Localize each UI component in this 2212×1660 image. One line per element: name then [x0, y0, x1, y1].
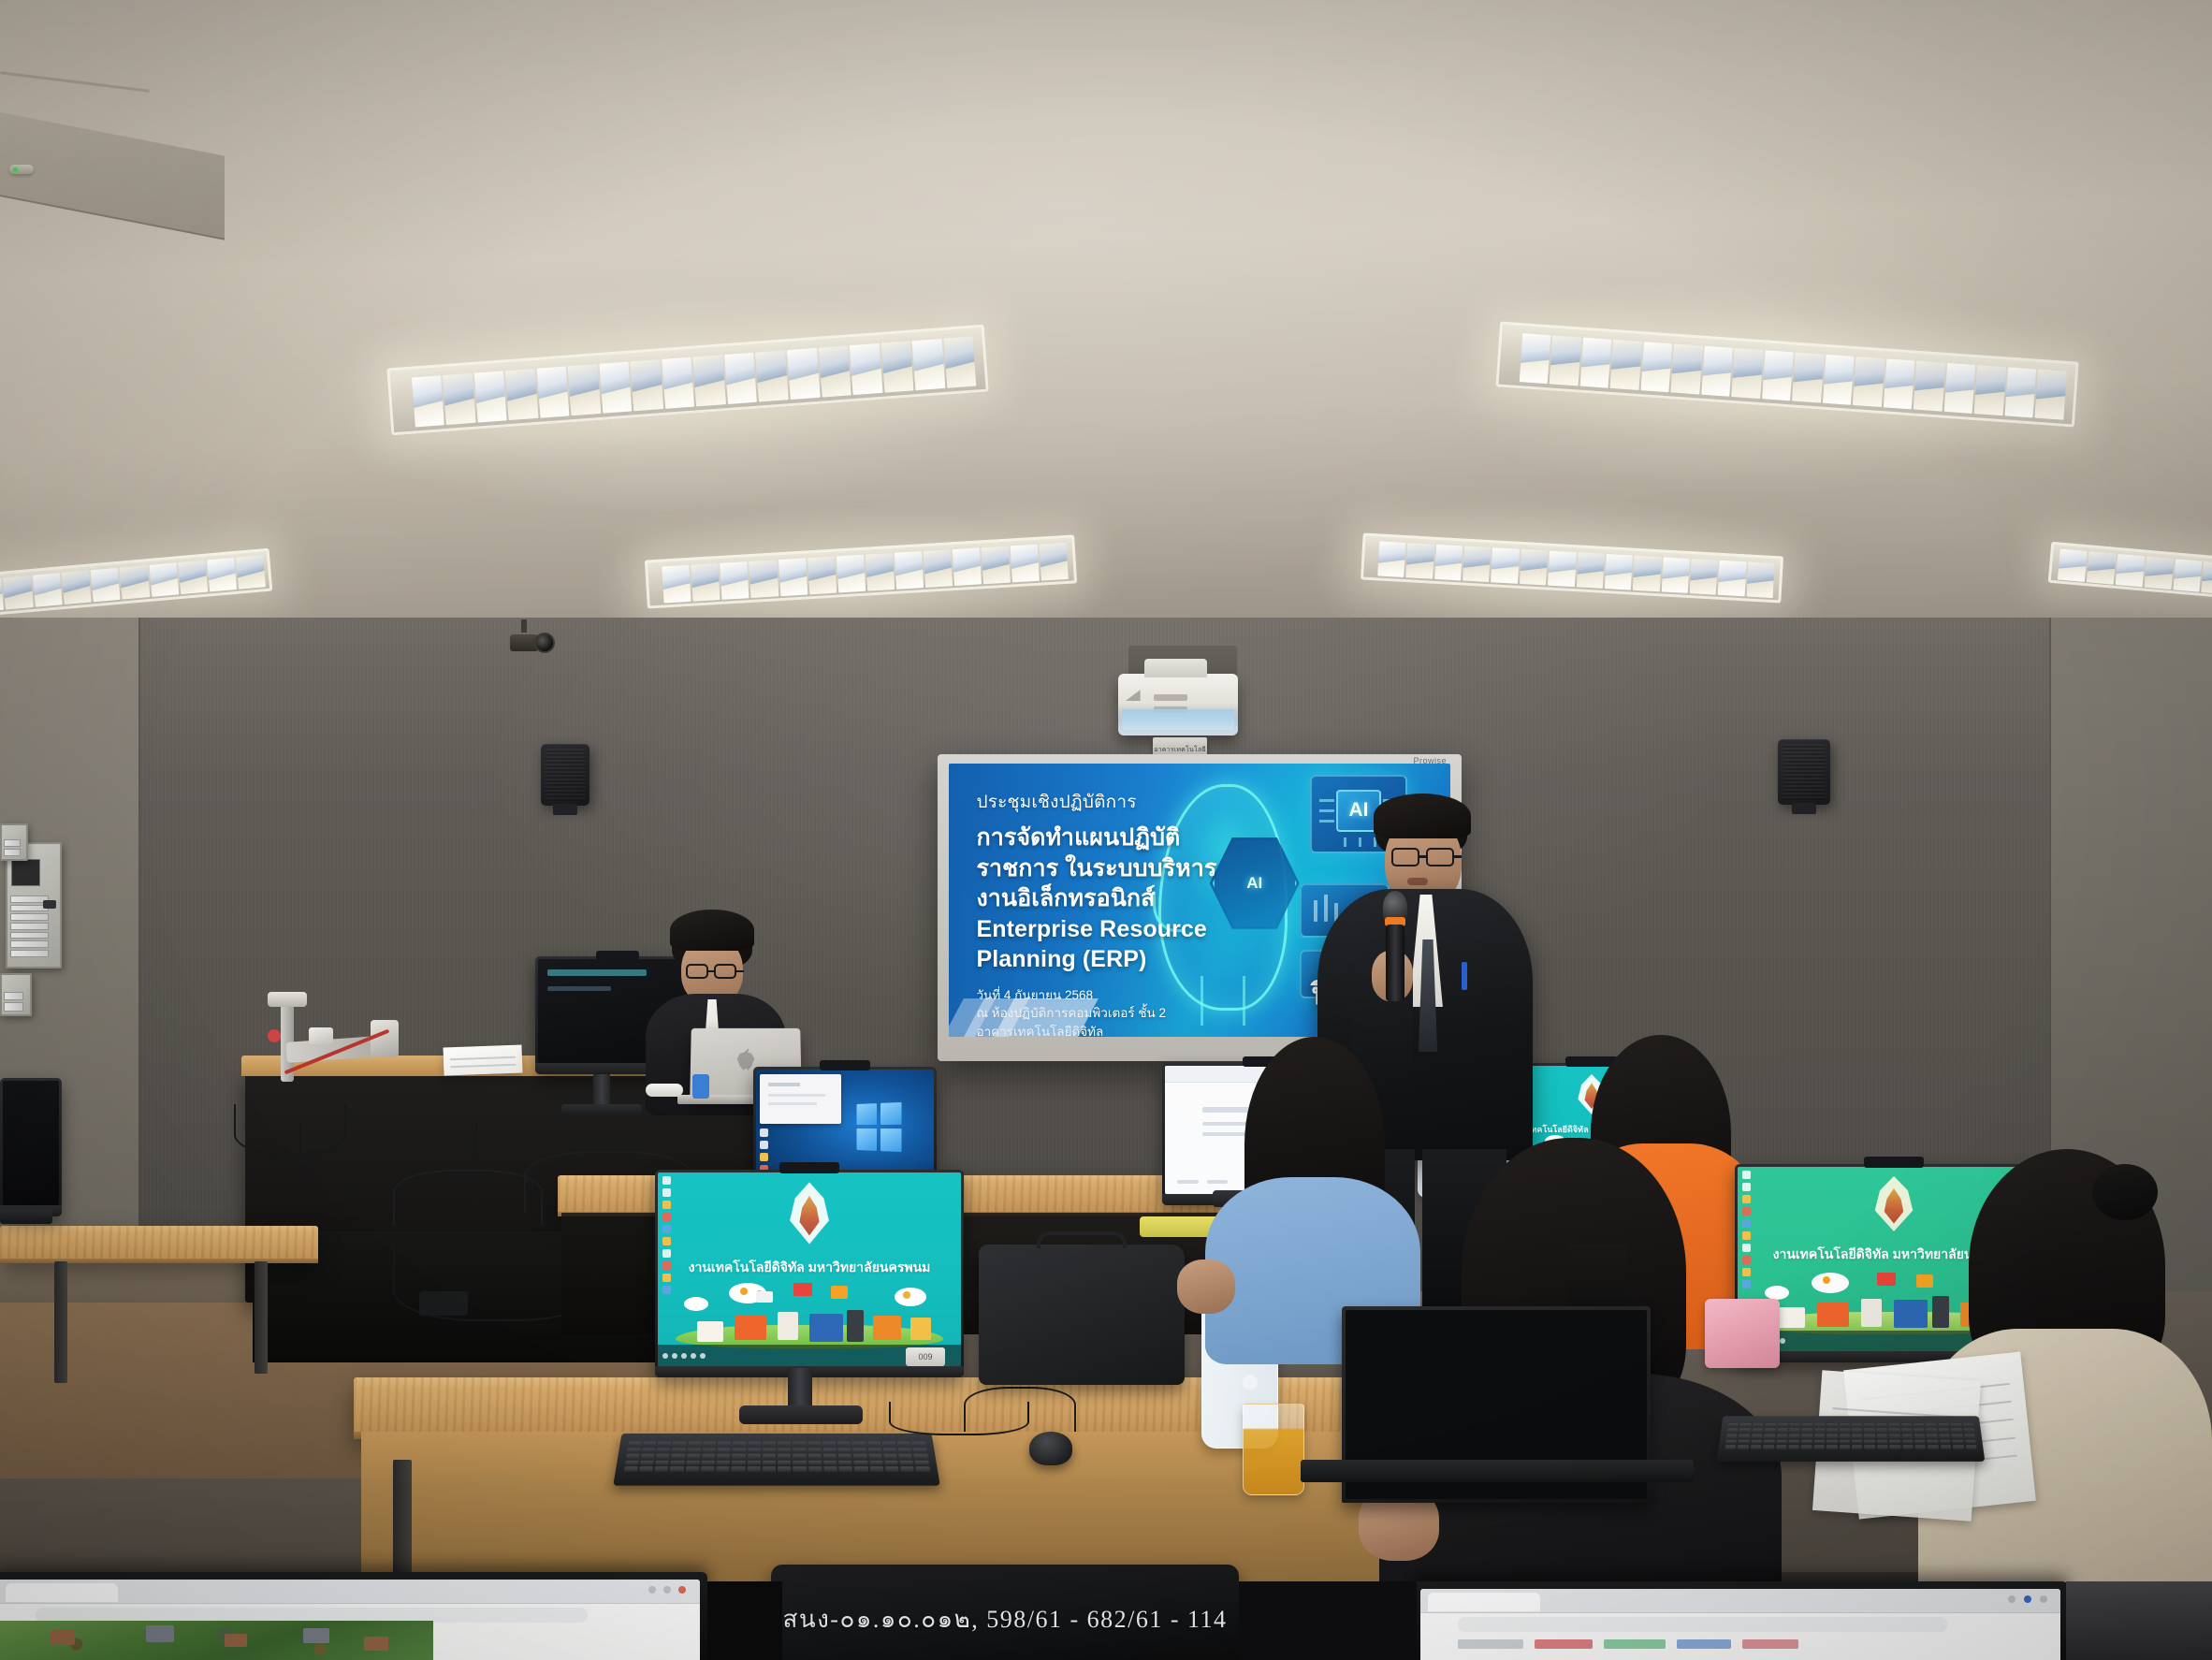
paper-stack-lectern — [444, 1045, 523, 1076]
slide-kicker: ประชุมเชิงปฏิบัติการ — [976, 788, 1216, 816]
monitor-npu-front-screen: งานเทคโนโลยีดิจิทัล มหาวิทยาลัยนครพนม — [658, 1172, 961, 1366]
pen-icon — [1462, 962, 1467, 990]
microphone-body — [1386, 925, 1404, 1001]
projector-asset-plate-text: อาคารเทคโนโลยี — [1154, 745, 1206, 755]
electrical-breaker-panel — [6, 842, 62, 968]
ai-chip-label: AI — [1348, 799, 1368, 822]
slide-title-line-5: Planning (ERP) — [976, 944, 1216, 975]
webcam-icon — [779, 1162, 839, 1173]
chair-asset-tag: สนง-๐๑.๑๐.๐๑๒, 598/61 - 682/61 - 114 — [782, 1600, 1227, 1638]
monitor-lectern-base — [561, 1104, 642, 1115]
glasses-icon — [1426, 848, 1454, 866]
backpack-on-desk — [979, 1245, 1185, 1385]
webcam-icon — [820, 1060, 870, 1070]
foreground-laptop-left[interactable] — [0, 1572, 707, 1660]
chair-back: สนง-๐๑.๑๐.๐๑๒, 598/61 - 682/61 - 114 — [771, 1565, 1239, 1660]
glasses-icon — [1391, 848, 1419, 866]
cable — [234, 1104, 346, 1155]
keyboard-right[interactable] — [1717, 1416, 1986, 1462]
document-camera-light — [309, 1027, 333, 1044]
monitor-side-left-base — [0, 1209, 52, 1224]
monitor-npu-front-base — [739, 1405, 863, 1424]
lectern-blue-object — [692, 1074, 709, 1099]
slide-title: การจัดทำแผนปฏิบัติ ราชการ ในระบบบริหาร ง… — [976, 823, 1216, 975]
ai-hex-badge-label: AI — [1246, 874, 1262, 893]
mouse-front[interactable] — [1029, 1432, 1072, 1465]
slide-title-line-2: ราชการ ในระบบบริหาร — [976, 853, 1216, 884]
slide-title-line-1: การจัดทำแผนปฏิบัติ — [976, 823, 1216, 853]
hair-bun — [2092, 1164, 2158, 1220]
foreground-laptop-right-screen — [1420, 1589, 2060, 1660]
lectern-mouse[interactable] — [646, 1084, 683, 1097]
keyboard-front[interactable] — [613, 1434, 939, 1486]
slide-title-line-4: Enterprise Resource — [976, 914, 1216, 945]
attendee-blue-hand — [1177, 1260, 1235, 1314]
microphone-head — [268, 1029, 281, 1042]
foreground-gap-left — [707, 1581, 782, 1660]
monitor-side-left[interactable] — [0, 1078, 62, 1216]
attendee-laptop-base — [1301, 1460, 1694, 1482]
keyboard-cable — [889, 1402, 1029, 1435]
monitor-npu-front[interactable]: งานเทคโนโลยีดิจิทัล มหาวิทยาลัยนครพนม — [655, 1170, 964, 1377]
electrical-sub-panel — [0, 823, 28, 861]
npu-wallpaper-text: งานเทคโนโลยีดิจิทัล มหาวิทยาลัยนครพนม — [676, 1258, 942, 1278]
electrical-sub-panel-2 — [0, 973, 32, 1016]
desk-leg — [54, 1261, 67, 1383]
slide-chevron-decor — [949, 998, 1159, 1037]
glasses-icon — [686, 964, 708, 979]
cable — [393, 1170, 543, 1226]
webcam-icon — [1864, 1157, 1924, 1168]
monitor-lectern-stand — [593, 1074, 610, 1106]
ceiling-shading — [0, 0, 2212, 655]
wall-speaker-left — [541, 744, 589, 806]
wall-speaker-right — [1778, 739, 1830, 805]
foreground-laptop-right[interactable] — [1413, 1581, 2068, 1660]
foreground-edge-right — [2066, 1581, 2212, 1660]
document-camera-lens-housing — [371, 1020, 399, 1057]
foreground-laptop-left-screen — [0, 1580, 700, 1660]
lecture-room-photo: อาคารเทคโนโลยี Prowise AI AI — [0, 0, 2212, 1660]
glasses-icon — [714, 964, 736, 979]
projector — [1118, 674, 1238, 735]
security-camera-icon — [510, 629, 560, 657]
foreground-gap-right — [1239, 1581, 1417, 1660]
iced-drink-glass — [1243, 1404, 1304, 1495]
smoke-detector-icon — [9, 165, 34, 174]
desk-leg — [255, 1261, 268, 1374]
side-desk-left — [0, 1226, 318, 1263]
monitor-asset-sticker: 009 — [906, 1347, 945, 1366]
pink-pouch — [1705, 1299, 1780, 1368]
bag-handle — [1037, 1231, 1128, 1248]
webcam-icon — [596, 951, 639, 960]
slide-title-line-3: งานอิเล็กทรอนิกส์ — [976, 883, 1216, 914]
document-camera-head — [268, 992, 307, 1007]
windows-logo-icon — [857, 1102, 902, 1152]
power-strip — [419, 1291, 468, 1316]
